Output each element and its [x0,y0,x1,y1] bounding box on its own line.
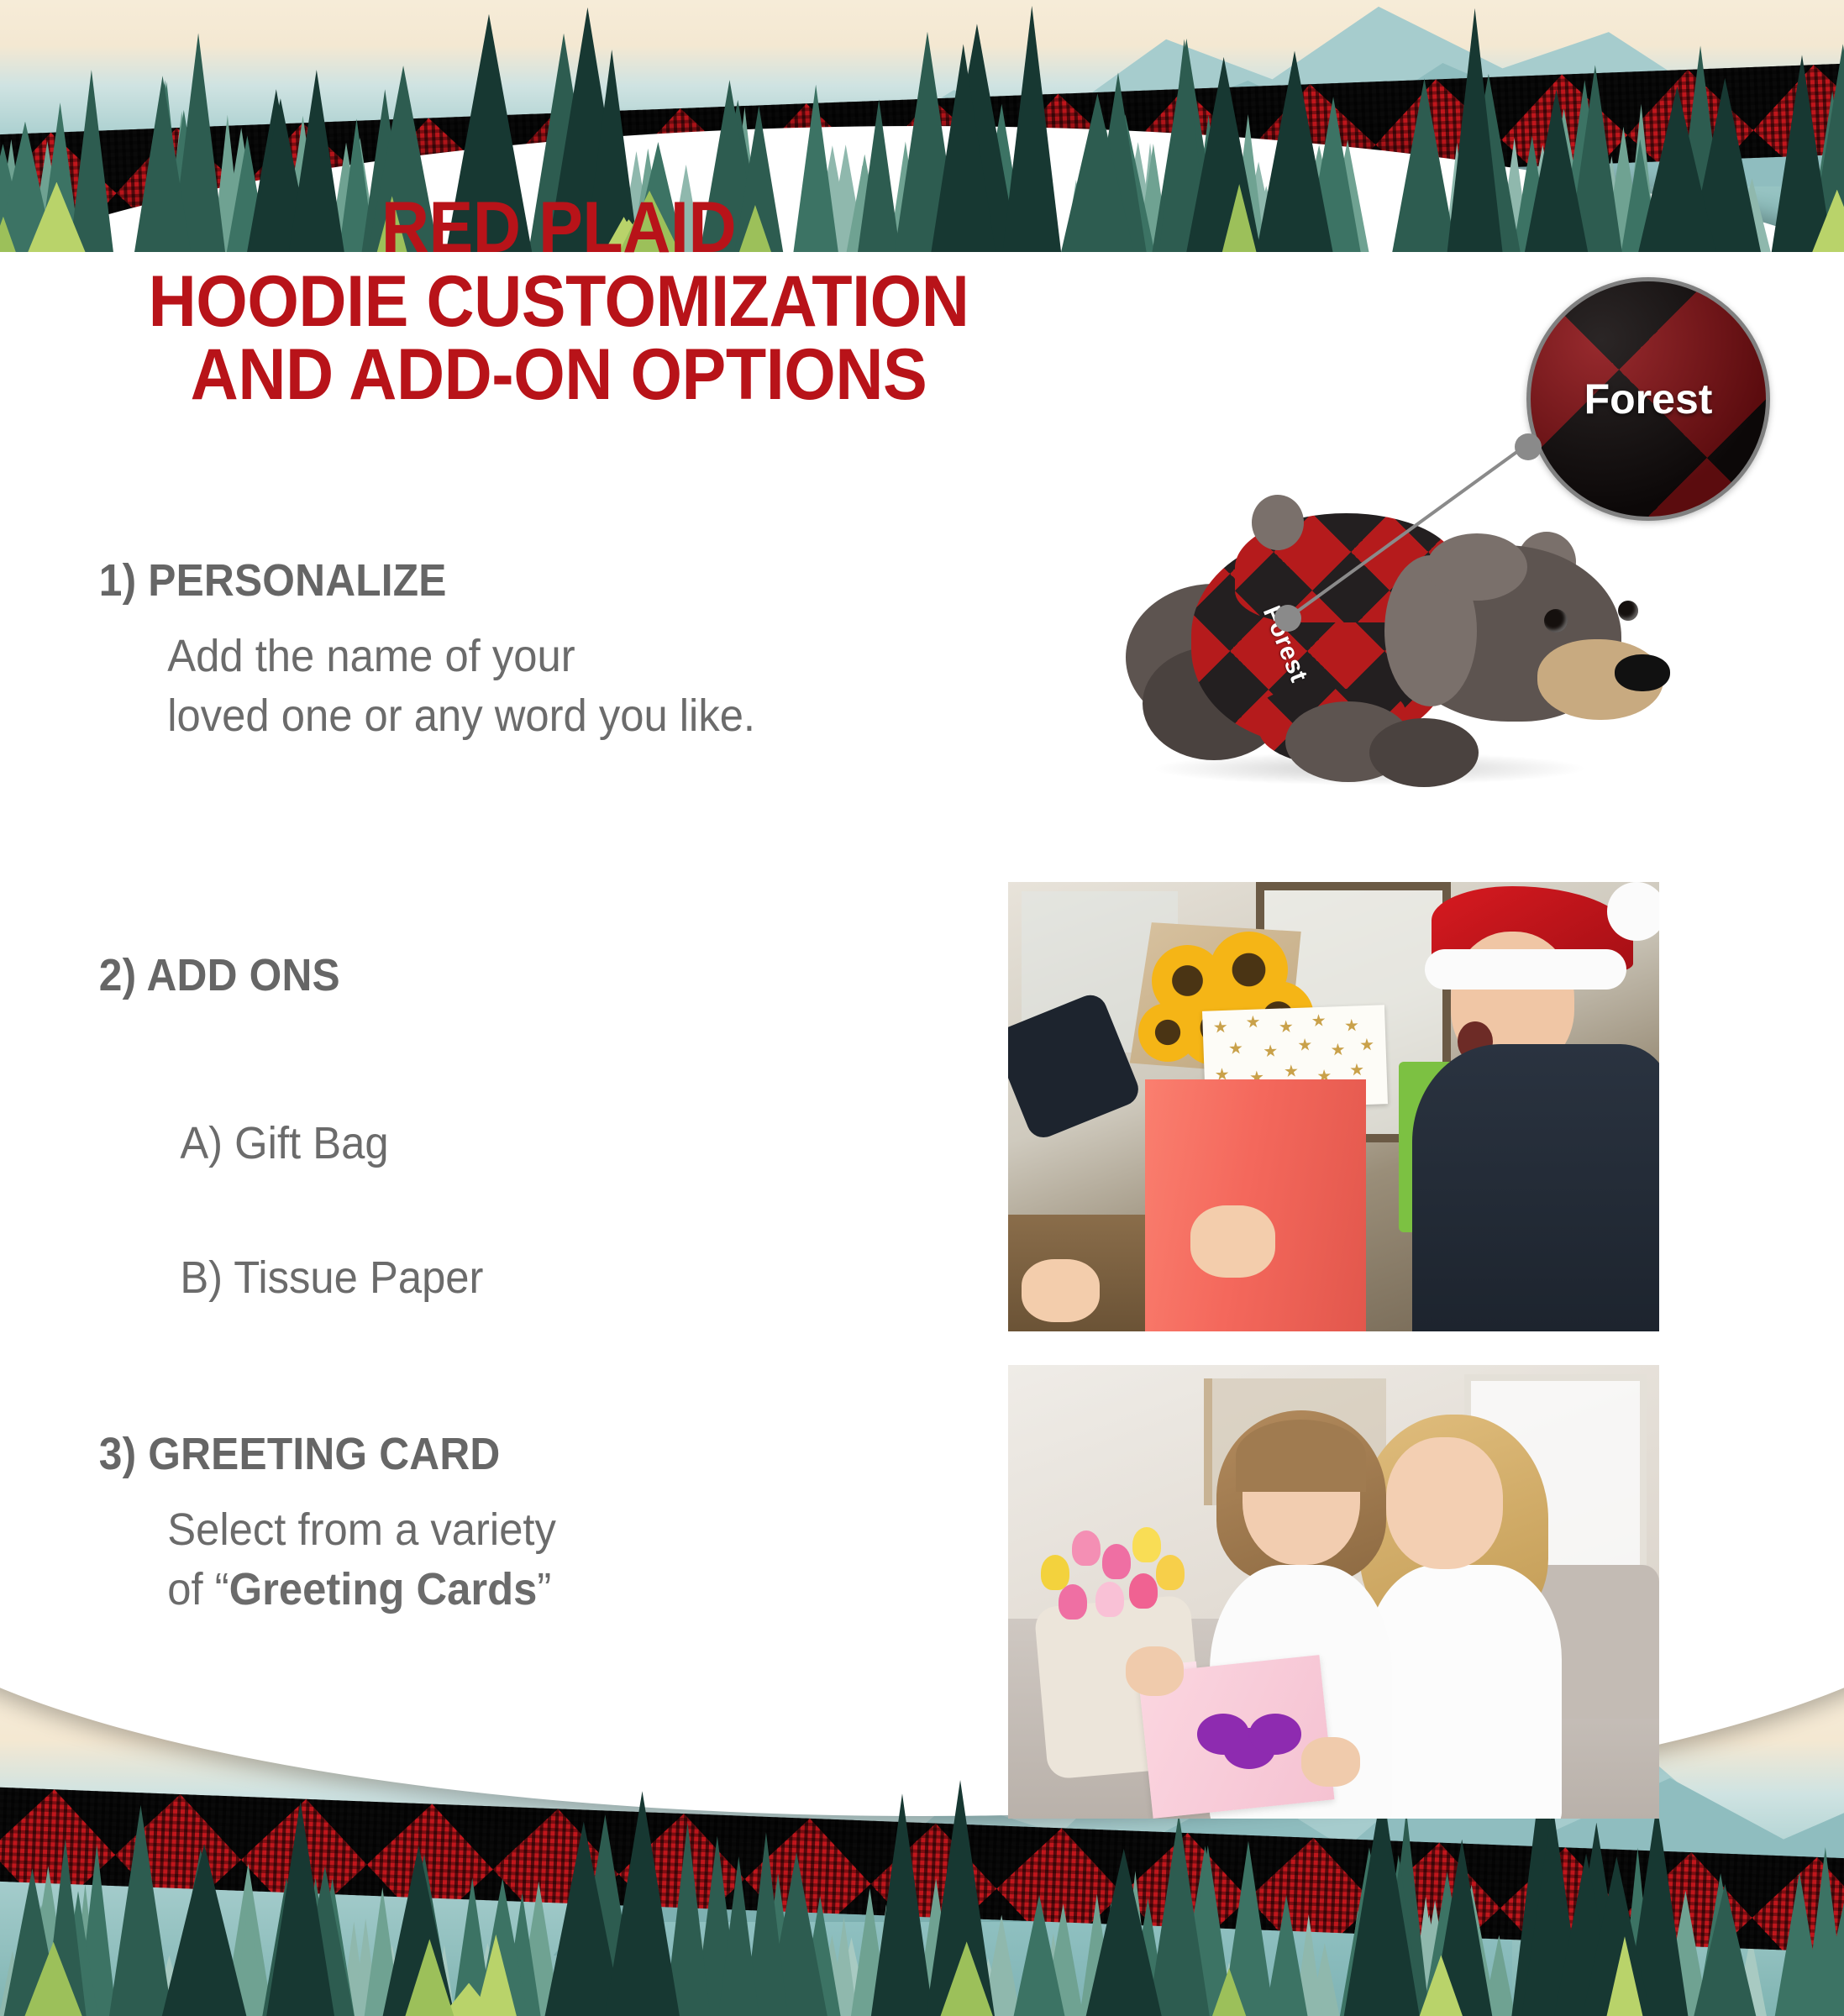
step-3-body: Select from a variety of “Greeting Cards… [0,1500,948,1620]
santa-hat-pompom [1607,882,1659,941]
addon-option-gift-bag[interactable]: A) Gift Bag [0,1117,1008,1169]
connector-dot-swatch [1515,433,1542,460]
bear-eye-left [1544,609,1568,633]
boy-body [1412,1044,1660,1331]
page-title: RED PLAID HOODIE CUSTOMIZATION AND ADD-O… [0,192,1117,412]
greeting-quote-open: of “ [167,1564,229,1614]
step-3-body-line-2: of “Greeting Cards” [167,1560,948,1620]
purple-heart-icon [1223,1728,1275,1769]
bear-nose [1615,654,1670,691]
tulip-bouquet [1027,1492,1197,1628]
sunflower-5 [1138,1003,1197,1062]
step-greeting-card: 3) GREETING CARD Select from a variety o… [0,1428,1008,1620]
mother-head [1386,1437,1504,1569]
step-personalize: 1) PERSONALIZE Add the name of your love… [0,554,1008,747]
step-1-heading: 1) PERSONALIZE [0,554,927,606]
step-2-heading: 2) ADD ONS [0,949,927,1001]
addon-option-tissue-paper[interactable]: B) Tissue Paper [0,1252,1008,1304]
gift-bag-photo [1008,882,1659,1331]
red-gift-bag [1145,1079,1367,1331]
boy-hand [1190,1205,1275,1278]
fabric-swatch-zoom-callout: Forest [1526,277,1770,521]
title-line-2: HOODIE CUSTOMIZATION [45,265,1073,339]
step-add-ons: 2) ADD ONS [0,949,1008,1001]
bear-head-fur-top [1426,533,1527,601]
title-line-1: RED PLAID [45,192,1073,265]
swatch-label: Forest [1531,375,1766,423]
daughter-hair-front [1236,1420,1366,1492]
step-3-body-line-1: Select from a variety [167,1500,948,1560]
plush-bear-product-image: Forest [1117,475,1655,794]
santa-hat-brim [1425,949,1626,990]
connector-dot-bear [1274,605,1301,632]
step-3-heading: 3) GREETING CARD [0,1428,927,1480]
step-1-body-line-2: loved one or any word you like. [167,686,948,746]
bear-front-paw-right [1369,718,1479,787]
bear-ear-left [1252,495,1304,550]
greeting-card-photo [1008,1365,1659,1819]
addon-a-label: A) Gift Bag [0,1117,948,1169]
giver-hand [1022,1259,1100,1322]
daughter-hand-left [1126,1646,1185,1696]
step-1-body: Add the name of your loved one or any wo… [0,627,948,747]
greeting-cards-emphasis: Greeting Cards [229,1564,538,1614]
step-1-body-line-1: Add the name of your [167,627,948,686]
greeting-quote-close: ” [537,1564,551,1614]
daughter-hand-right [1301,1737,1360,1787]
mother-body [1366,1565,1562,1819]
title-line-3: AND ADD-ON OPTIONS [45,339,1073,412]
addon-b-label: B) Tissue Paper [0,1252,948,1304]
bear-eye-right [1618,601,1638,621]
